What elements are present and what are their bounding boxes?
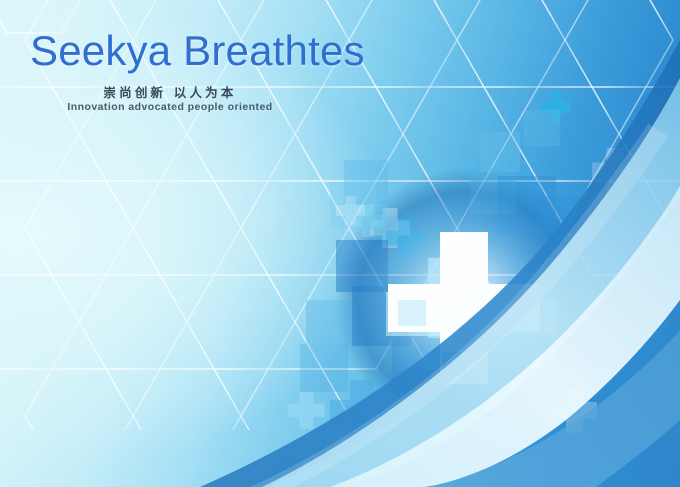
slogan-chinese: 崇尚创新 以人为本 xyxy=(0,82,340,101)
slide-canvas: Seekya Breathtes 崇尚创新 以人为本 Innovation ad… xyxy=(0,0,680,487)
slogan-english: Innovation advocated people oriented xyxy=(0,101,340,113)
page-title: Seekya Breathtes xyxy=(30,27,365,75)
